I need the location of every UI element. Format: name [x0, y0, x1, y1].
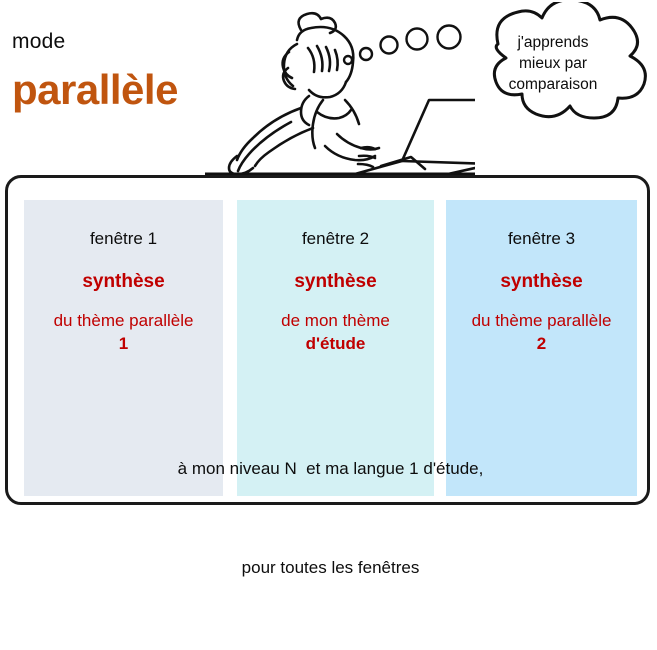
column-1-content: fenêtre 1 synthèse du thème parallèle 1 — [24, 200, 223, 355]
column-2-synthese: synthèse — [237, 271, 434, 293]
column-3-desc-text: du thème parallèle — [472, 311, 612, 330]
column-1-desc-text: du thème parallèle — [54, 311, 194, 330]
column-2-description: de mon thème d'étude — [237, 309, 434, 355]
caption-line-1: à mon niveau N et ma langue 1 d'étude, — [8, 452, 653, 485]
column-2-title: fenêtre 2 — [237, 229, 434, 249]
column-1-title: fenêtre 1 — [24, 229, 223, 249]
bubble-line-3: comparaison — [478, 74, 628, 95]
bubble-line-1: j'apprends — [478, 32, 628, 53]
caption-line-2: pour toutes les fenêtres — [8, 551, 653, 584]
box-caption: à mon niveau N et ma langue 1 d'étude, p… — [8, 386, 653, 650]
thought-bubble-text: j'apprends mieux par comparaison — [478, 32, 628, 95]
column-1-desc-emphasis: 1 — [24, 332, 223, 355]
parallel-mode-box: fenêtre 1 synthèse du thème parallèle 1 … — [5, 175, 650, 505]
mode-title: parallèle — [12, 66, 178, 114]
column-2-desc-text: de mon thème — [281, 311, 390, 330]
column-3-content: fenêtre 3 synthèse du thème parallèle 2 — [446, 200, 637, 355]
mode-label: mode — [12, 30, 65, 54]
bubble-line-2: mieux par — [478, 53, 628, 74]
column-3-title: fenêtre 3 — [446, 229, 637, 249]
column-3-desc-emphasis: 2 — [446, 332, 637, 355]
column-3-description: du thème parallèle 2 — [446, 309, 637, 355]
column-2-content: fenêtre 2 synthèse de mon thème d'étude — [237, 200, 434, 355]
columns-container: fenêtre 1 synthèse du thème parallèle 1 … — [8, 178, 653, 508]
column-1-description: du thème parallèle 1 — [24, 309, 223, 355]
column-1-synthese: synthèse — [24, 271, 223, 293]
header-area: mode parallèle — [0, 0, 657, 172]
column-2-desc-emphasis: d'étude — [237, 332, 434, 355]
column-3-synthese: synthèse — [446, 271, 637, 293]
